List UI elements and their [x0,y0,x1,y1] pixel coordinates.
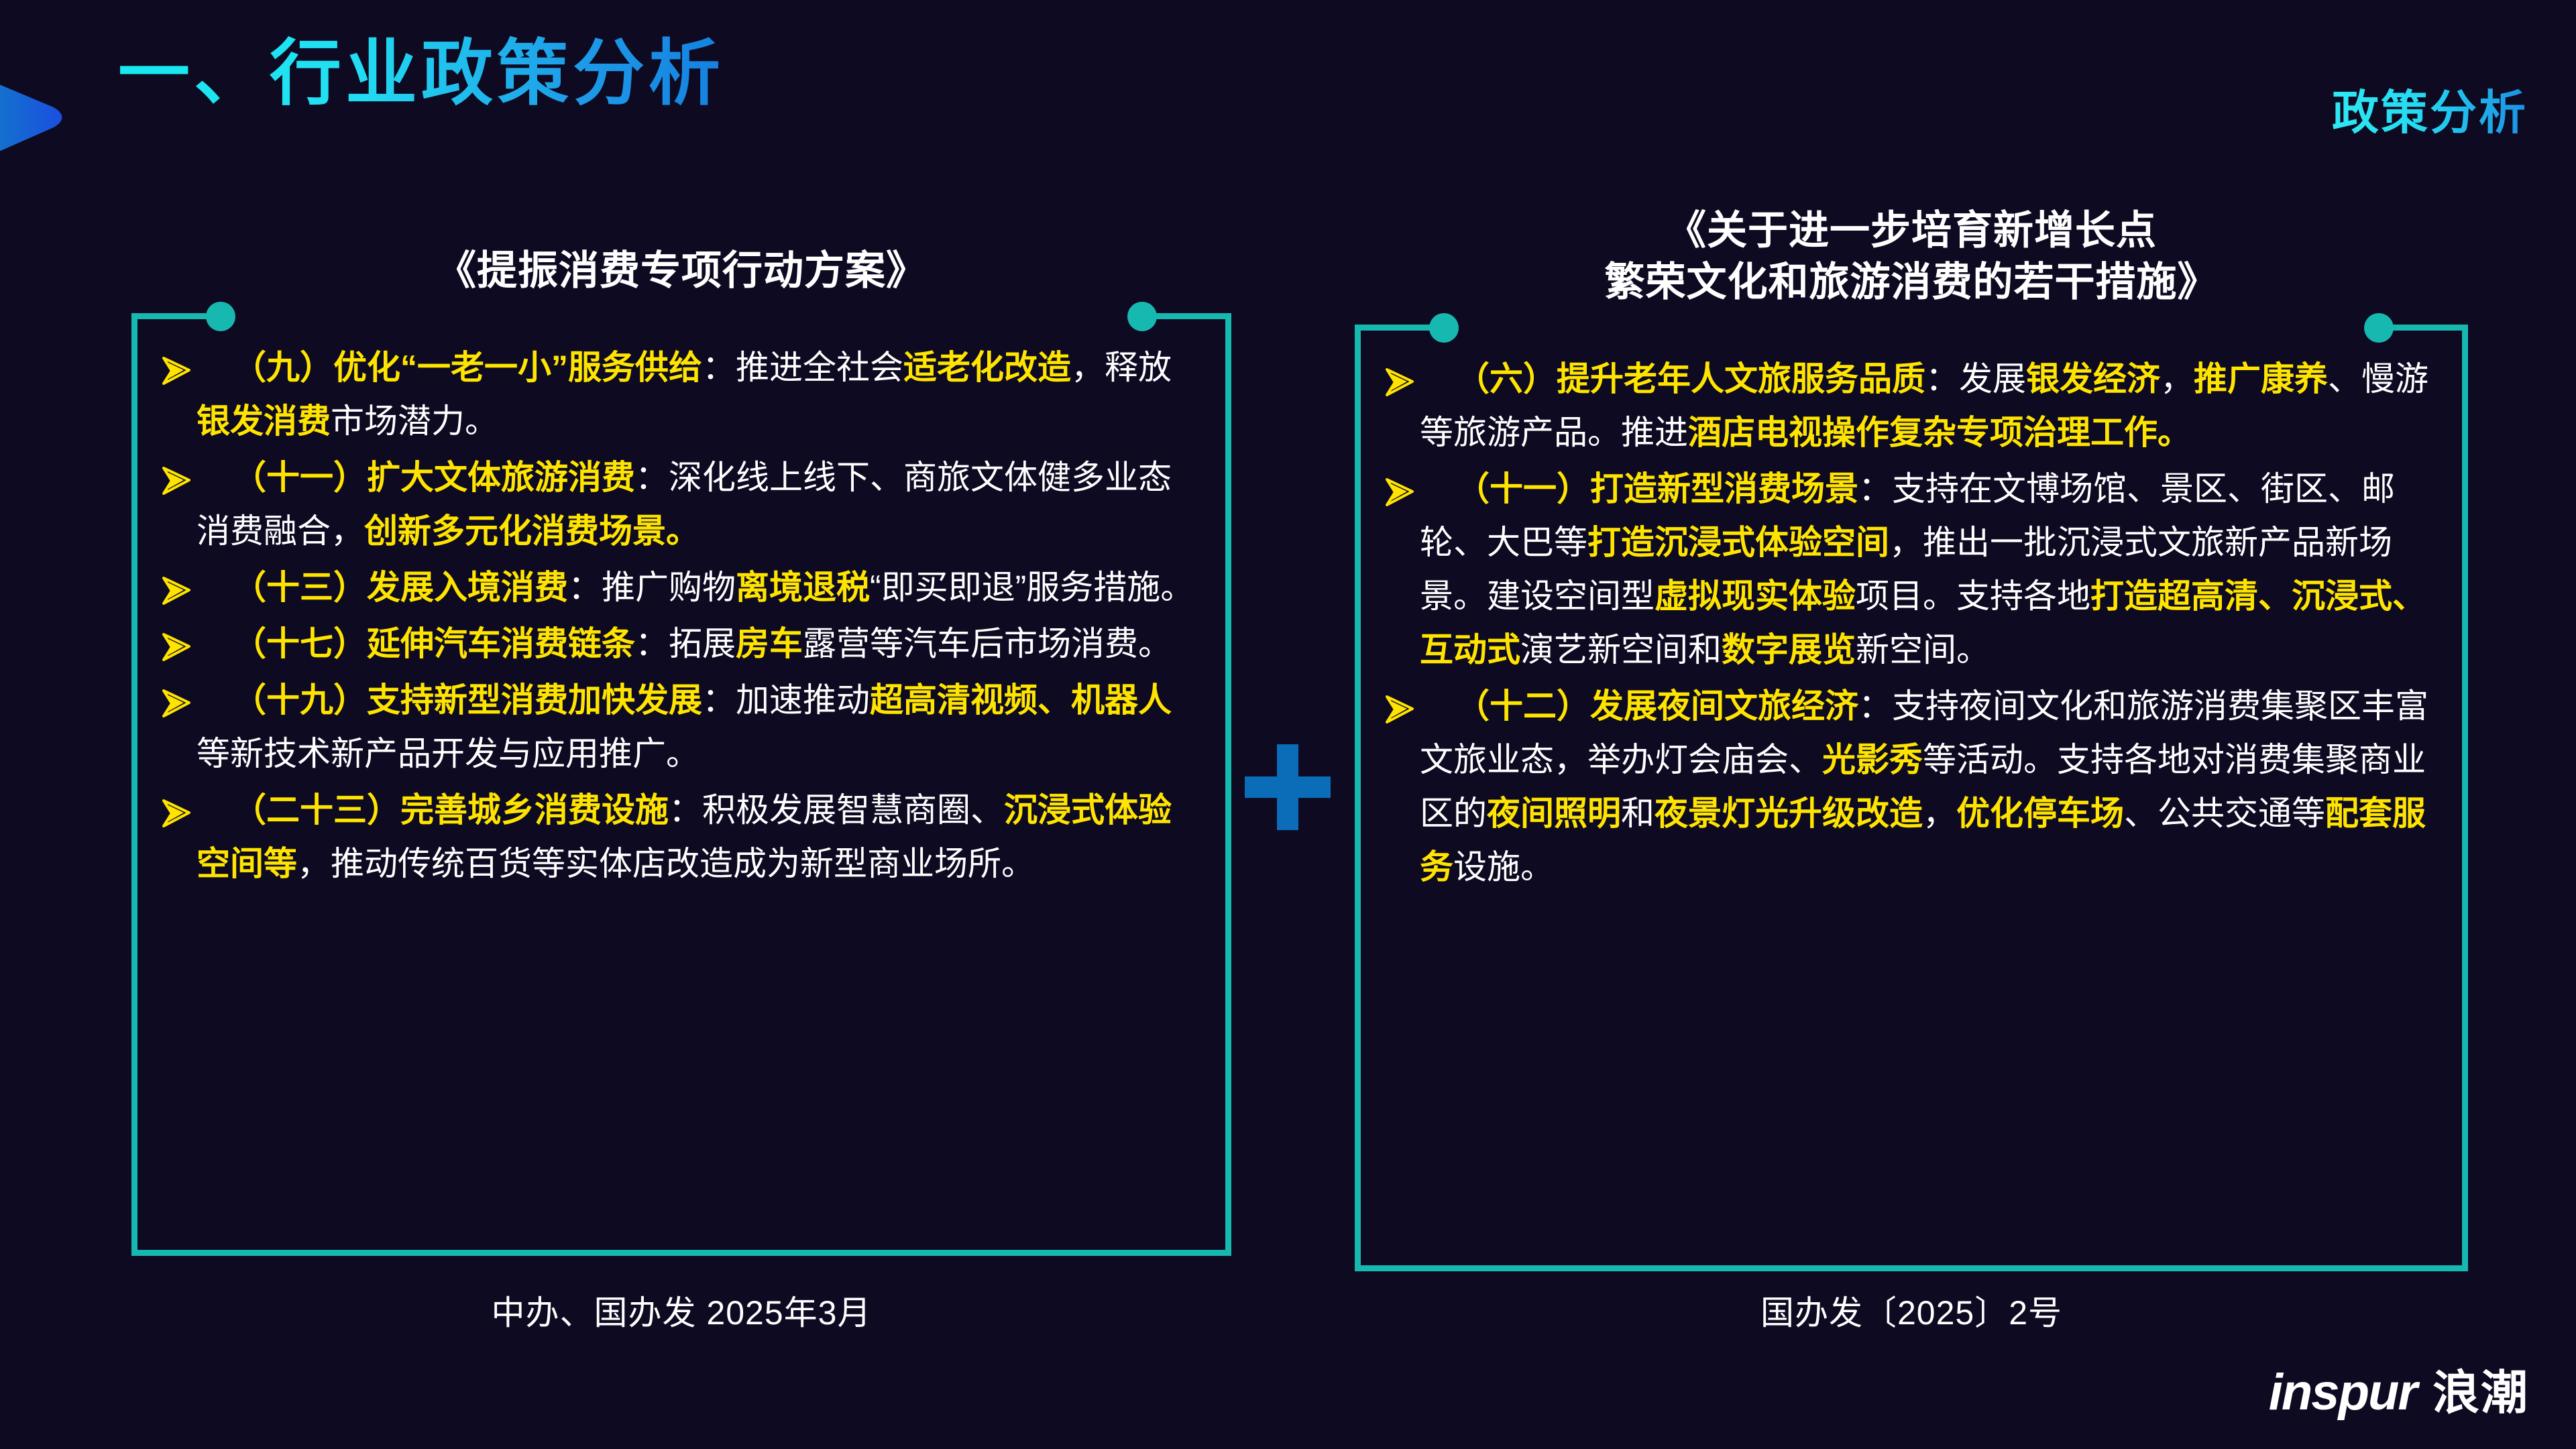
left-bullet-list: （九）优化“一老一小”服务供给：推进全社会适老化改造，释放银发消费市场潜力。（十… [137,319,1225,907]
plain-text: ，释放 [1071,349,1172,386]
arrow-bullet-icon [160,632,190,666]
arrow-bullet-icon [160,465,190,500]
arrow-bullet-icon [1383,694,1414,728]
highlighted-text: （十一）打造新型消费场景 [1456,470,1858,508]
logo-wordmark: inspur [2269,1367,2416,1418]
highlighted-text: 酒店电视操作复杂专项治理工作。 [1688,414,2191,451]
plain-text: 市场潜力。 [331,402,498,440]
arrow-bullet-icon [160,355,190,390]
bullet-text: （十一）打造新型消费场景：支持在文博场馆、景区、街区、邮轮、大巴等打造沉浸式体验… [1420,462,2439,677]
bullet-text: （十二）发展夜间文旅经济：支持夜间文化和旅游消费集聚区丰富文旅业态，举办灯会庙会… [1420,679,2439,894]
bullet-text: （十一）扩大文体旅游消费：深化线上线下、商旅文体健多业态消费融合，创新多元化消费… [197,451,1202,558]
bullet-text: （十三）发展入境消费：推广购物离境退税“即买即退”服务措施。 [197,561,1202,614]
bullet-item: （九）优化“一老一小”服务供给：推进全社会适老化改造，释放银发消费市场潜力。 [154,341,1202,448]
bullet-arrow-cell [154,673,197,722]
frame-dot-left [206,302,235,331]
bullet-item: （十七）延伸汽车消费链条：拓展房车露营等汽车后市场消费。 [154,617,1202,671]
highlighted-text: 房车 [736,625,803,662]
inspur-logo: inspur 浪潮 [2269,1367,2529,1418]
plain-text: ：发展 [1925,360,2026,398]
bullet-arrow-cell [1377,679,1420,728]
bullet-arrow-cell [1377,352,1420,401]
frame-dot-left [1429,313,1459,343]
highlighted-text: 光影秀 [1822,741,1923,778]
highlighted-text: 创新多元化消费场景。 [364,512,699,550]
plain-text: 、公共交通等 [2124,795,2325,832]
bullet-item: （十三）发展入境消费：推广购物离境退税“即买即退”服务措施。 [154,561,1202,614]
highlighted-text: （十九）支持新型消费加快发展 [233,681,702,719]
highlighted-text: （十二）发展夜间文旅经济 [1456,687,1858,725]
plain-text: 设施。 [1453,848,1554,886]
bullet-item: （十二）发展夜间文旅经济：支持夜间文化和旅游消费集聚区丰富文旅业态，举办灯会庙会… [1377,679,2439,894]
highlighted-text: 打造沉浸式体验空间 [1587,524,1889,561]
bullet-item: （十一）打造新型消费场景：支持在文博场馆、景区、街区、邮轮、大巴等打造沉浸式体验… [1377,462,2439,677]
bullet-text: （六）提升老年人文旅服务品质：发展银发经济，推广康养、慢游等旅游产品。推进酒店电… [1420,352,2439,459]
plain-text: ：推进全社会 [702,349,903,386]
plain-text: ：拓展 [635,625,736,662]
logo-chinese-name: 浪潮 [2432,1369,2529,1416]
left-panel-title: 《提振消费专项行动方案》 [131,201,1231,297]
bullet-item: （十一）扩大文体旅游消费：深化线上线下、商旅文体健多业态消费融合，创新多元化消费… [154,451,1202,558]
highlighted-text: 离境退税 [736,569,870,606]
page-title: 一、行业政策分析 [118,32,724,115]
highlighted-text: （十七）延伸汽车消费链条 [233,625,635,662]
bullet-arrow-cell [154,341,197,390]
highlighted-text: 优化停车场 [1956,795,2124,832]
bullet-item: （六）提升老年人文旅服务品质：发展银发经济，推广康养、慢游等旅游产品。推进酒店电… [1377,352,2439,459]
plain-text: ，推动传统百货等实体店改造成为新型商业场所。 [297,845,1035,882]
frame-dot-right [2364,313,2394,343]
plain-text: 露营等汽车后市场消费。 [803,625,1172,662]
highlighted-text: （六）提升老年人文旅服务品质 [1456,360,1925,398]
arrow-bullet-icon [160,798,190,832]
bullet-arrow-cell [154,561,197,610]
bullet-item: （十九）支持新型消费加快发展：加速推动超高清视频、机器人等新技术新产品开发与应用… [154,673,1202,780]
plain-text: ：积极发展智慧商圈、 [669,791,1004,829]
highlighted-text: 超高清视频、机器人 [870,681,1172,719]
right-bullet-list: （六）提升老年人文旅服务品质：发展银发经济，推广康养、慢游等旅游产品。推进酒店电… [1361,331,2462,910]
plain-text: 和 [1621,795,1655,832]
arrow-bullet-icon [1383,477,1414,511]
plain-text: ， [2160,360,2194,398]
plain-text: ：加速推动 [702,681,870,719]
bullet-arrow-cell [154,451,197,500]
frame-top-gap [1441,321,2382,335]
highlighted-text: 数字展览 [1722,631,1856,669]
section-tag: 政策分析 [2332,75,2528,143]
highlighted-text: 推广康养 [2194,360,2328,398]
bullet-text: （十七）延伸汽车消费链条：拓展房车露营等汽车后市场消费。 [197,617,1202,671]
plain-text: ， [1923,795,1956,832]
left-policy-panel: 《提振消费专项行动方案》 （九）优化“一老一小”服务供给：推进全社会适老化改造，… [131,201,1231,1256]
bullet-text: （十九）支持新型消费加快发展：加速推动超高清视频、机器人等新技术新产品开发与应用… [197,673,1202,780]
frame-dot-right [1127,302,1157,331]
plain-text: 演艺新空间和 [1520,631,1722,669]
bullet-text: （九）优化“一老一小”服务供给：推进全社会适老化改造，释放银发消费市场潜力。 [197,341,1202,448]
highlighted-text: （十一）扩大文体旅游消费 [233,459,635,496]
highlighted-text: 夜景灯光升级改造 [1655,795,1923,832]
bullet-arrow-cell [1377,462,1420,511]
highlighted-text: 虚拟现实体验 [1655,577,1856,615]
plain-text: 等新技术新产品开发与应用推广。 [197,735,699,772]
bullet-item: （二十三）完善城乡消费设施：积极发展智慧商圈、沉浸式体验空间等，推动传统百货等实… [154,783,1202,890]
chevron-right-decoration [0,7,114,228]
plus-icon [1245,744,1331,833]
right-panel-frame: （六）提升老年人文旅服务品质：发展银发经济，推广康养、慢游等旅游产品。推进酒店电… [1355,325,2468,1271]
arrow-bullet-icon [160,575,190,610]
left-panel-caption: 中办、国办发 2025年3月 [131,1286,1231,1334]
plain-text: ：推广购物 [568,569,736,606]
bullet-arrow-cell [154,783,197,832]
right-panel-title: 《关于进一步培育新增长点 繁荣文化和旅游消费的若干措施》 [1355,201,2468,308]
right-policy-panel: 《关于进一步培育新增长点 繁荣文化和旅游消费的若干措施》 （六）提升老年人文旅服… [1355,201,2468,1271]
bullet-arrow-cell [154,617,197,666]
highlighted-text: （十三）发展入境消费 [233,569,568,606]
left-panel-frame: （九）优化“一老一小”服务供给：推进全社会适老化改造，释放银发消费市场潜力。（十… [131,313,1231,1256]
plain-text: “即买即退”服务措施。 [870,569,1194,606]
highlighted-text: 银发经济 [2026,360,2160,398]
right-panel-caption: 国办发〔2025〕2号 [1355,1286,2468,1334]
bullet-text: （二十三）完善城乡消费设施：积极发展智慧商圈、沉浸式体验空间等，推动传统百货等实… [197,783,1202,890]
plain-text: 新空间。 [1856,631,1990,669]
arrow-bullet-icon [160,688,190,722]
highlighted-text: 银发消费 [197,402,331,440]
highlighted-text: 夜间照明 [1487,795,1621,832]
highlighted-text: 适老化改造 [903,349,1071,386]
highlighted-text: （二十三）完善城乡消费设施 [233,791,669,829]
frame-top-gap [218,310,1145,323]
plain-text: 项目。支持各地 [1856,577,2090,615]
arrow-bullet-icon [1383,367,1414,401]
highlighted-text: （九）优化“一老一小”服务供给 [233,349,702,386]
